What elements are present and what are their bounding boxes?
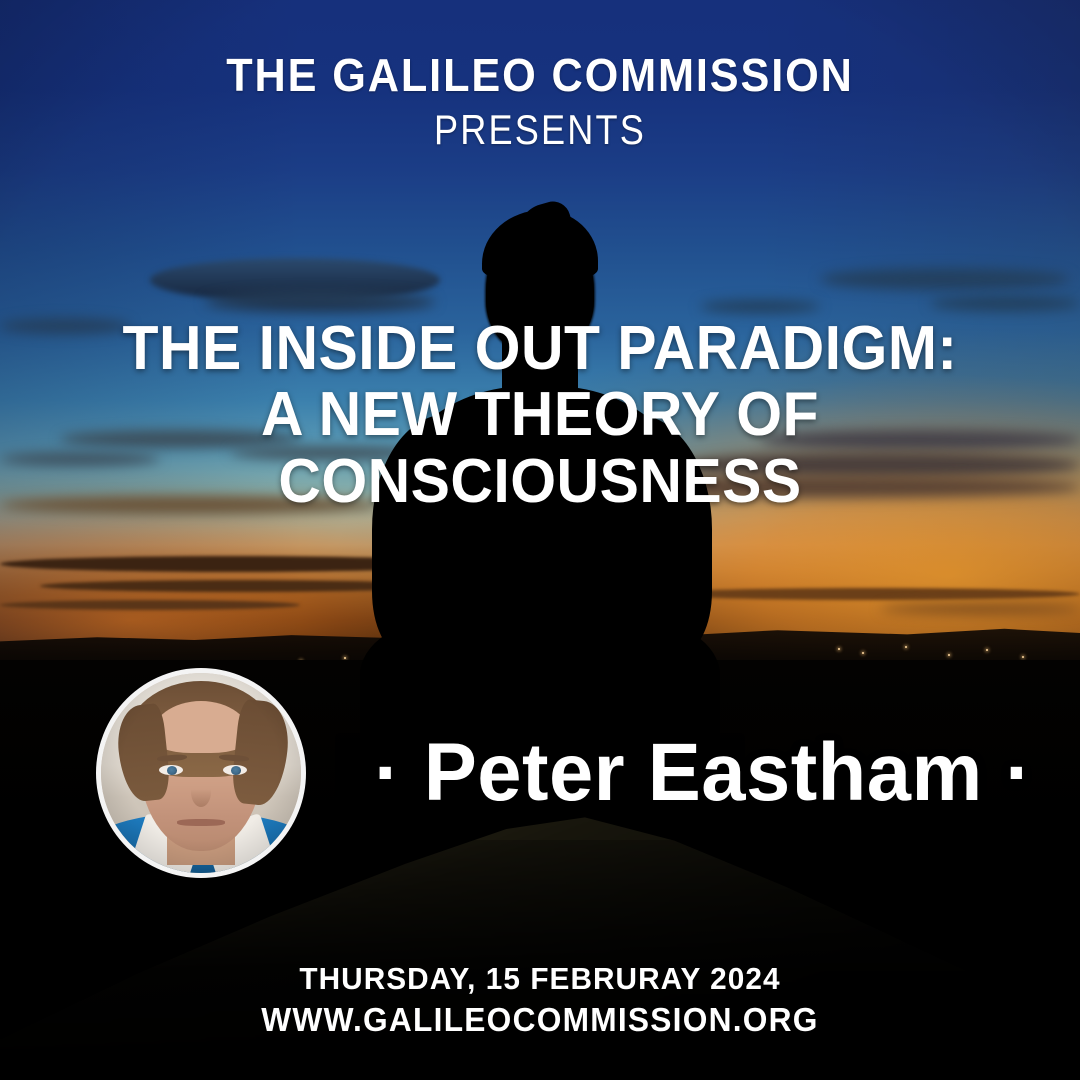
avatar bbox=[96, 668, 306, 878]
speaker-name: · Peter Eastham · bbox=[374, 726, 1032, 820]
poster-footer: THURSDAY, 15 FEBRURAY 2024 WWW.GALILEOCO… bbox=[0, 961, 1080, 1040]
presents-label: PRESENTS bbox=[76, 106, 1005, 154]
poster-header: THE GALILEO COMMISSION PRESENTS bbox=[0, 52, 1080, 154]
speaker-section: · Peter Eastham · bbox=[0, 668, 1080, 878]
talk-title-line-3: CONSCIOUSNESS bbox=[27, 449, 1053, 515]
website-url[interactable]: WWW.GALILEOCOMMISSION.ORG bbox=[22, 1001, 1059, 1040]
organization-name: THE GALILEO COMMISSION bbox=[32, 52, 1047, 100]
talk-title: THE INSIDE OUT PARADIGM: A NEW THEORY OF… bbox=[27, 316, 1053, 515]
event-poster: THE GALILEO COMMISSION PRESENTS THE INSI… bbox=[0, 0, 1080, 1080]
talk-title-line-1: THE INSIDE OUT PARADIGM: bbox=[27, 316, 1053, 382]
talk-title-line-2: A NEW THEORY OF bbox=[27, 382, 1053, 448]
speaker-portrait-photo bbox=[101, 673, 301, 873]
event-date: THURSDAY, 15 FEBRURAY 2024 bbox=[22, 961, 1059, 998]
